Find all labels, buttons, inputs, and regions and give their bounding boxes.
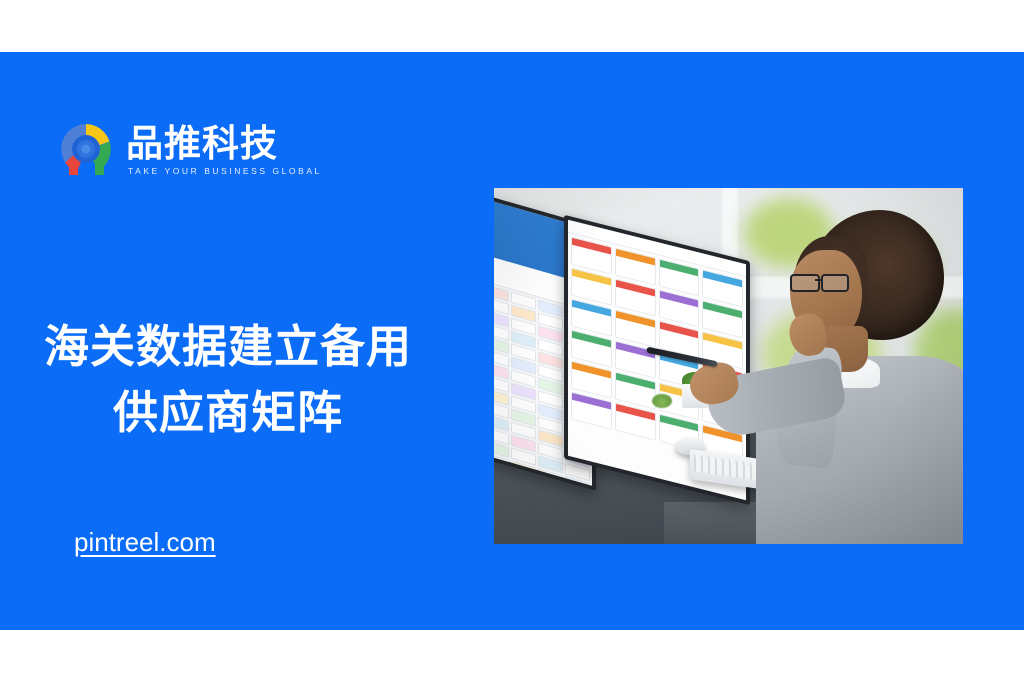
company-name-cn: 品推科技 <box>126 124 322 164</box>
company-tagline: TAKE YOUR BUSINESS GLOBAL <box>128 165 322 177</box>
site-url-link[interactable]: pintreel.com <box>74 526 216 558</box>
glasses-lens-left <box>790 274 820 292</box>
glasses-lens-right <box>821 274 849 292</box>
blue-banner: 品推科技 TAKE YOUR BUSINESS GLOBAL 海关数据建立备用 … <box>0 52 1024 630</box>
pintreel-logo-icon <box>55 118 117 180</box>
brand-logo-lockup[interactable]: 品推科技 TAKE YOUR BUSINESS GLOBAL <box>55 118 322 180</box>
hero-photo <box>494 188 963 544</box>
headline-line-2: 供应商矩阵 <box>0 380 456 446</box>
eyeglasses-icon <box>790 274 850 288</box>
logo-text-block: 品推科技 TAKE YOUR BUSINESS GLOBAL <box>126 122 322 177</box>
small-plant <box>652 394 672 408</box>
page-title: 海关数据建立备用 供应商矩阵 <box>0 314 456 446</box>
slide-canvas: 品推科技 TAKE YOUR BUSINESS GLOBAL 海关数据建立备用 … <box>0 0 1024 683</box>
headline-line-1: 海关数据建立备用 <box>0 314 456 380</box>
